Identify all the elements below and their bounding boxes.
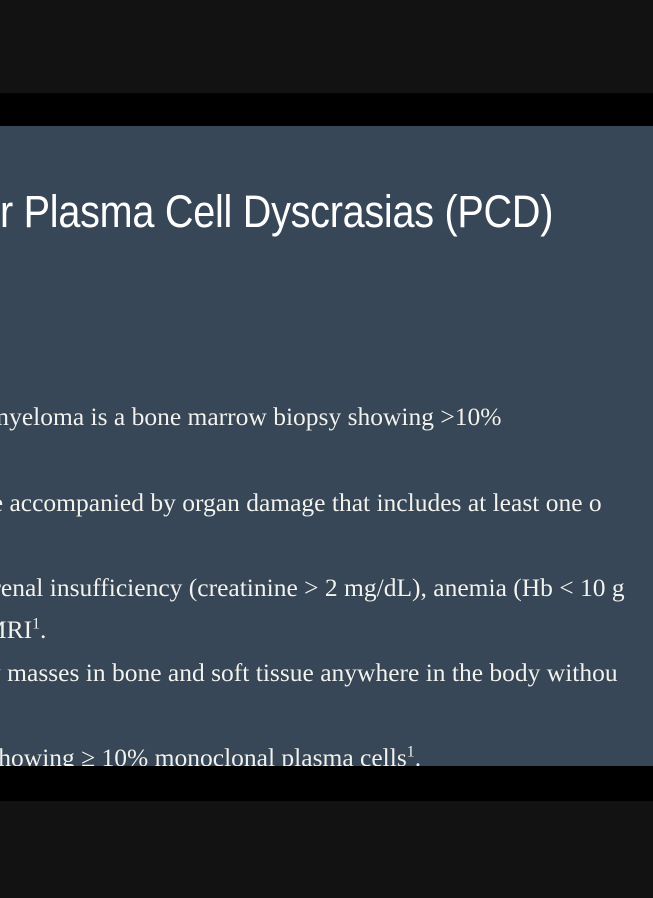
player-chrome-bottom: [0, 801, 653, 898]
slide-title: r Plasma Cell Dyscrasias (PCD): [0, 188, 653, 235]
letterbox-bar-top: [0, 93, 653, 126]
slide-body-line: biopsy showing ≥ 10% monoclonal plasma c…: [0, 745, 421, 766]
slide-body-line-text: ng multiple myeloma is a bone marrow bio…: [0, 402, 502, 431]
slide-body-line: g/dL), renal insufficiency (creatinine >…: [0, 575, 625, 602]
citation-superscript: 1: [32, 616, 40, 633]
letterbox-bar-bottom: [0, 766, 653, 801]
player-chrome-top: [0, 0, 653, 93]
slide-body-line-text: s solitary masses in bone and soft tissu…: [0, 658, 618, 687]
slide-body-line-text: g/dL), renal insufficiency (creatinine >…: [0, 573, 625, 602]
slide-canvas: r Plasma Cell Dyscrasias (PCD) ng multip…: [0, 126, 653, 766]
slide-body-line-text: biopsy showing ≥ 10% monoclonal plasma c…: [0, 743, 407, 766]
slide-viewer: r Plasma Cell Dyscrasias (PCD) ng multip…: [0, 0, 653, 898]
slide-body-line-suffix: .: [40, 615, 46, 644]
slide-body-line: s solitary masses in bone and soft tissu…: [0, 660, 618, 687]
slide-body-line: sy must be accompanied by organ damage t…: [0, 490, 602, 517]
slide-body-line: ng multiple myeloma is a bone marrow bio…: [0, 404, 502, 431]
slide-body-line-suffix: .: [415, 743, 421, 766]
slide-body-line-text: ns on MRI: [0, 615, 32, 644]
presentation-slide[interactable]: r Plasma Cell Dyscrasias (PCD) ng multip…: [0, 126, 653, 766]
slide-body-line-text: sy must be accompanied by organ damage t…: [0, 488, 602, 517]
slide-body-line: ns on MRI1.: [0, 617, 46, 644]
citation-superscript: 1: [407, 744, 415, 761]
